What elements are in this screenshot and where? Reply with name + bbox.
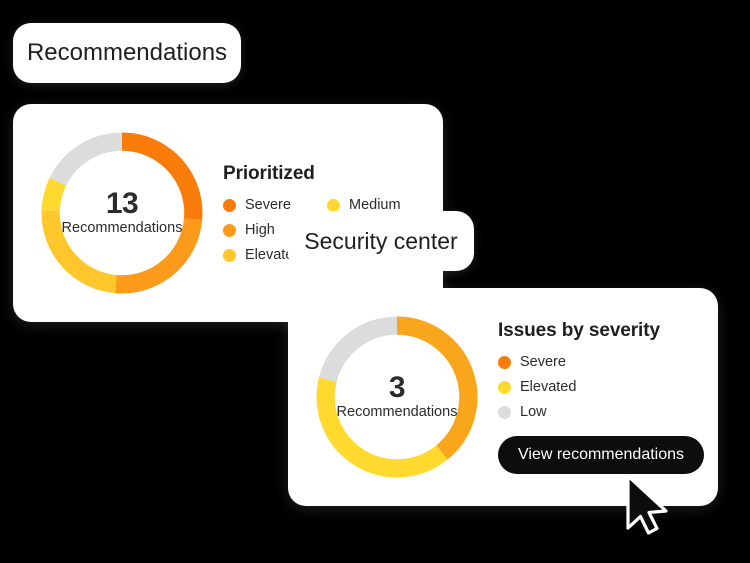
pill-recommendations[interactable]: Recommendations <box>13 23 241 83</box>
pill-security-center-label: Security center <box>304 228 457 255</box>
donut-segment-medium <box>51 182 58 211</box>
legend-item-low[interactable]: Low <box>498 404 602 420</box>
legend-panel-issues: Issues by severity SevereElevatedLow Vie… <box>484 320 718 474</box>
card-issues-by-severity: 3 Recommendations Issues by severity Sev… <box>288 288 718 506</box>
legend-item-label: Low <box>520 404 547 420</box>
legend-item-label: Severe <box>245 197 291 213</box>
legend-row: Low <box>498 404 704 420</box>
legend-dot-icon <box>498 381 511 394</box>
donut-segment-elevated <box>51 211 116 285</box>
legend-item-severe[interactable]: Severe <box>498 354 602 370</box>
donut-segment-elevated <box>326 380 442 469</box>
donut-segment-high <box>116 219 193 284</box>
legend-dot-icon <box>498 406 511 419</box>
legend-dot-icon <box>223 199 236 212</box>
legend-item-elevated[interactable]: Elevated <box>498 379 602 395</box>
legend-dot-icon <box>223 224 236 237</box>
legend-title-issues: Issues by severity <box>498 320 704 342</box>
donut-svg-prioritized <box>35 126 209 300</box>
pill-security-center[interactable]: Security center <box>288 211 474 271</box>
view-recommendations-button[interactable]: View recommendations <box>498 436 704 474</box>
legend-title-prioritized: Prioritized <box>223 163 431 185</box>
donut-segment-severe <box>122 142 193 220</box>
donut-segment-severe <box>397 326 468 453</box>
legend-dot-icon <box>498 356 511 369</box>
legend-row: Elevated <box>498 379 704 395</box>
screenshot-stage: Recommendations 13 Recommendations Prior… <box>0 0 750 563</box>
legend-item-label: High <box>245 222 275 238</box>
legend-item-label: Severe <box>520 354 566 370</box>
donut-chart-prioritized: 13 Recommendations <box>35 126 209 300</box>
pill-recommendations-label: Recommendations <box>27 39 227 67</box>
legend-dot-icon <box>223 249 236 262</box>
legend-row: Severe <box>498 354 704 370</box>
legend-dot-icon <box>327 199 340 212</box>
donut-chart-issues: 3 Recommendations <box>310 310 484 484</box>
donut-svg-issues <box>310 310 484 484</box>
donut-segment-low <box>328 326 397 380</box>
legend-list-issues: SevereElevatedLow <box>498 354 704 420</box>
card-issues-inner: 3 Recommendations Issues by severity Sev… <box>288 288 718 506</box>
legend-item-label: Elevated <box>520 379 576 395</box>
donut-segment-low <box>58 142 122 182</box>
